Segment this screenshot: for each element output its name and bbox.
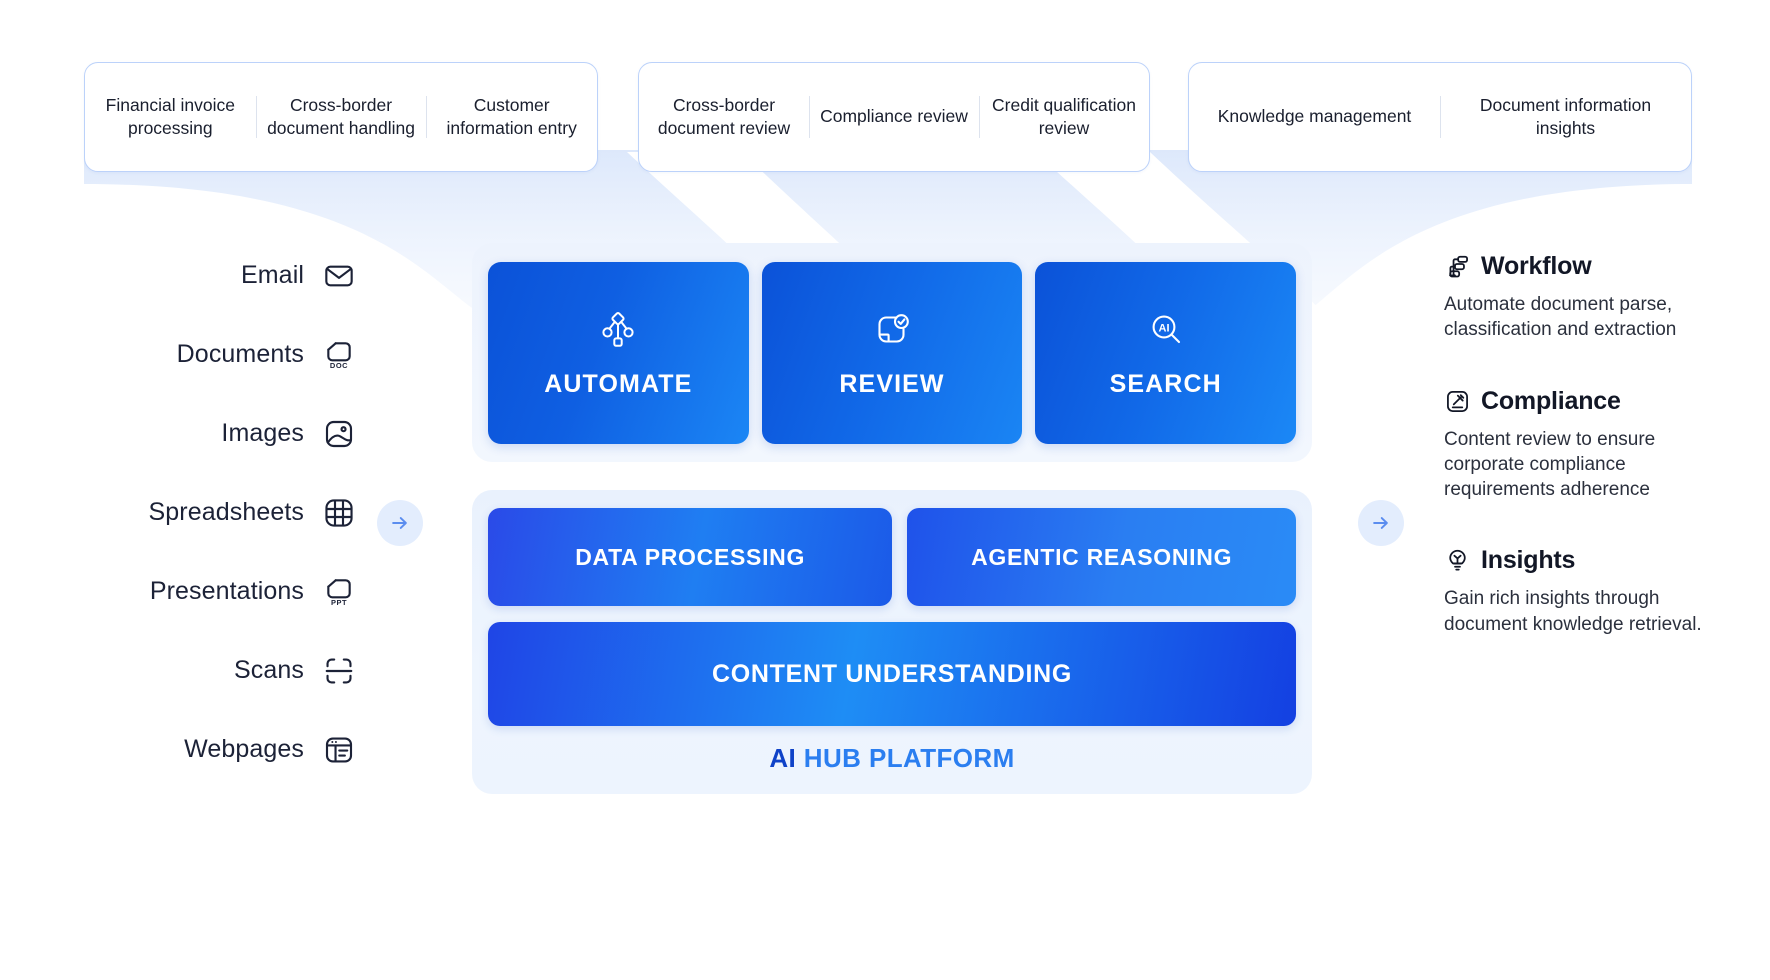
gavel-icon	[1444, 388, 1470, 414]
layer-data-processing[interactable]: DATA PROCESSING	[488, 508, 892, 606]
benefit-title: Workflow	[1481, 252, 1591, 281]
arrow-right-icon	[1370, 512, 1392, 534]
platform-layers: DATA PROCESSING AGENTIC REASONING CONTEN…	[472, 490, 1312, 794]
platform-name: AI HUB PLATFORM	[488, 743, 1296, 780]
benefit-description: Content review to ensure corporate compl…	[1444, 427, 1724, 503]
benefit-insights: Insights Gain rich insights through docu…	[1444, 546, 1724, 637]
usecase-item: Compliance review	[809, 105, 979, 128]
scan-icon	[322, 654, 356, 688]
browser-window-icon	[322, 733, 356, 767]
source-label: Webpages	[184, 735, 304, 764]
usecase-item: Credit qualification review	[979, 94, 1149, 140]
ai-hub-platform: AUTOMATE REVIEW	[472, 243, 1312, 794]
svg-text:DOC: DOC	[330, 360, 348, 369]
source-label: Images	[221, 419, 304, 448]
platform-layer-row: DATA PROCESSING AGENTIC REASONING	[488, 508, 1296, 606]
envelope-icon	[322, 259, 356, 293]
source-item-presentations: Presentations PPT	[96, 568, 356, 615]
capability-card-automate[interactable]: AUTOMATE	[488, 262, 749, 444]
source-item-spreadsheets: Spreadsheets	[96, 489, 356, 536]
benefit-header: Insights	[1444, 546, 1724, 575]
capability-title: AUTOMATE	[544, 370, 692, 399]
benefit-title: Compliance	[1481, 387, 1621, 416]
platform-name-rest: HUB PLATFORM	[796, 743, 1014, 773]
usecase-panels-row: Financial invoice processing Cross-borde…	[84, 62, 1692, 172]
image-icon	[322, 417, 356, 451]
usecase-item: Knowledge management	[1189, 105, 1440, 128]
ppt-file-icon: PPT	[322, 575, 356, 609]
flow-arrow-left[interactable]	[377, 500, 423, 546]
benefit-title: Insights	[1481, 546, 1575, 575]
capability-title: REVIEW	[839, 370, 944, 399]
capability-cards-row: AUTOMATE REVIEW	[472, 243, 1312, 462]
arrow-right-icon	[389, 512, 411, 534]
platform-name-prefix: AI	[769, 743, 796, 773]
usecase-panel-automation: Financial invoice processing Cross-borde…	[84, 62, 598, 172]
capability-card-review[interactable]: REVIEW	[762, 262, 1023, 444]
source-label: Scans	[234, 656, 304, 685]
svg-text:AI: AI	[1158, 322, 1169, 334]
usecase-panel-search: Knowledge management Document informatio…	[1188, 62, 1692, 172]
lightbulb-icon	[1444, 548, 1470, 574]
source-item-scans: Scans	[96, 647, 356, 694]
benefit-header: Compliance	[1444, 387, 1724, 416]
source-item-images: Images	[96, 410, 356, 457]
benefit-header: Workflow	[1444, 252, 1724, 281]
flow-arrow-right[interactable]	[1358, 500, 1404, 546]
capability-card-search[interactable]: AI SEARCH	[1035, 262, 1296, 444]
capability-title: SEARCH	[1110, 370, 1222, 399]
usecase-panel-review: Cross-border document review Compliance …	[638, 62, 1150, 172]
usecase-item: Cross-border document handling	[256, 94, 427, 140]
doc-file-icon: DOC	[322, 338, 356, 372]
svg-text:PPT: PPT	[331, 597, 347, 606]
benefits-list: Workflow Automate document parse, classi…	[1444, 252, 1724, 637]
benefit-workflow: Workflow Automate document parse, classi…	[1444, 252, 1724, 343]
usecase-item: Cross-border document review	[639, 94, 809, 140]
source-item-webpages: Webpages	[96, 726, 356, 773]
workflow-nodes-icon	[596, 307, 640, 353]
source-item-email: Email	[96, 252, 356, 299]
source-label: Presentations	[150, 577, 304, 606]
source-label: Documents	[177, 340, 304, 369]
source-label: Spreadsheets	[149, 498, 304, 527]
usecase-item: Financial invoice processing	[85, 94, 256, 140]
layer-agentic-reasoning[interactable]: AGENTIC REASONING	[907, 508, 1296, 606]
hierarchy-icon	[1444, 254, 1470, 280]
infographic-canvas: Financial invoice processing Cross-borde…	[0, 0, 1770, 980]
layer-content-understanding[interactable]: CONTENT UNDERSTANDING	[488, 622, 1296, 726]
benefit-description: Gain rich insights through document know…	[1444, 586, 1724, 637]
ai-magnifier-icon: AI	[1144, 307, 1188, 353]
usecase-item: Customer information entry	[426, 94, 597, 140]
benefit-description: Automate document parse, classification …	[1444, 292, 1724, 343]
document-check-icon	[870, 307, 914, 353]
benefit-compliance: Compliance Content review to ensure corp…	[1444, 387, 1724, 503]
usecase-item: Document information insights	[1440, 94, 1691, 140]
source-types-list: Email Documents DOC Images	[96, 252, 356, 773]
source-item-documents: Documents DOC	[96, 331, 356, 378]
source-label: Email	[241, 261, 304, 290]
grid-table-icon	[322, 496, 356, 530]
